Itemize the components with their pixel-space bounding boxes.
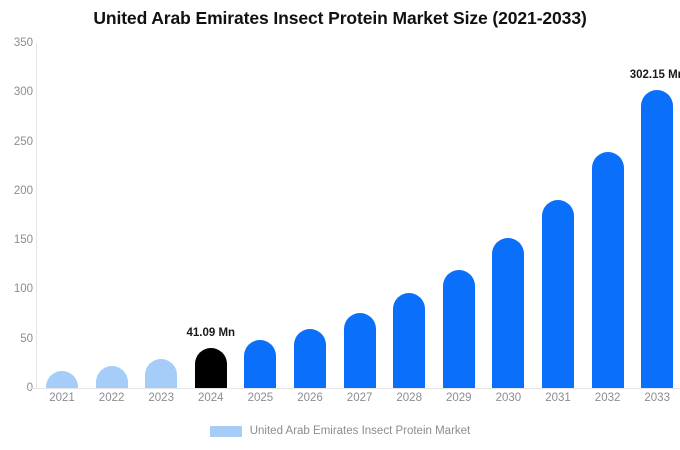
bar-slot	[139, 43, 183, 388]
y-tick-label: 0	[3, 382, 33, 394]
bar-2031[interactable]	[542, 200, 574, 388]
x-tick-label: 2023	[139, 392, 183, 404]
bar-value-label: 41.09 Mn	[187, 327, 236, 339]
y-tick-label: 150	[3, 234, 33, 246]
bar-slot: 302.15 Mn	[635, 43, 679, 388]
x-tick-label: 2021	[40, 392, 84, 404]
bar-slot	[387, 43, 431, 388]
legend-swatch-icon	[210, 426, 242, 437]
x-tick-label: 2025	[238, 392, 282, 404]
legend-item[interactable]: United Arab Emirates Insect Protein Mark…	[210, 425, 471, 437]
bar-slot	[90, 43, 134, 388]
x-tick-label: 2031	[536, 392, 580, 404]
bar-2026[interactable]	[294, 329, 326, 388]
bar-2021[interactable]	[46, 371, 78, 388]
y-tick-label: 50	[3, 333, 33, 345]
bar-slot	[288, 43, 332, 388]
y-tick-label: 100	[3, 283, 33, 295]
chart-legend: United Arab Emirates Insect Protein Mark…	[0, 425, 680, 437]
x-axis-line	[30, 388, 680, 389]
x-tick-label: 2029	[437, 392, 481, 404]
bar-slot	[536, 43, 580, 388]
y-tick-label: 300	[3, 86, 33, 98]
y-tick-label: 250	[3, 136, 33, 148]
bar-slot: 41.09 Mn	[189, 43, 233, 388]
legend-item-label: United Arab Emirates Insect Protein Mark…	[250, 425, 471, 437]
bar-2024[interactable]	[195, 348, 227, 389]
bar-slot	[40, 43, 84, 388]
bar-slot	[586, 43, 630, 388]
bar-2022[interactable]	[96, 366, 128, 388]
bar-value-label: 302.15 Mn	[630, 69, 680, 81]
bar-2028[interactable]	[393, 293, 425, 388]
bar-slot	[238, 43, 282, 388]
x-tick-label: 2022	[90, 392, 134, 404]
x-tick-label: 2026	[288, 392, 332, 404]
bar-chart: United Arab Emirates Insect Protein Mark…	[0, 0, 680, 450]
y-tick-label: 350	[3, 37, 33, 49]
bar-2032[interactable]	[592, 152, 624, 388]
x-tick-label: 2024	[189, 392, 233, 404]
chart-title: United Arab Emirates Insect Protein Mark…	[0, 8, 680, 29]
bar-2030[interactable]	[492, 238, 524, 388]
x-tick-label: 2033	[635, 392, 679, 404]
bar-2029[interactable]	[443, 270, 475, 388]
y-axis-ticks: 050100150200250300350	[0, 0, 33, 450]
x-tick-label: 2028	[387, 392, 431, 404]
bar-2025[interactable]	[244, 340, 276, 388]
bar-slot	[338, 43, 382, 388]
x-tick-label: 2032	[586, 392, 630, 404]
bar-2023[interactable]	[145, 359, 177, 388]
plot-area: 41.09 Mn302.15 Mn	[37, 43, 680, 388]
y-tick-label: 200	[3, 185, 33, 197]
bar-slot	[437, 43, 481, 388]
x-tick-label: 2027	[338, 392, 382, 404]
bar-2027[interactable]	[344, 313, 376, 388]
bar-slot	[486, 43, 530, 388]
bar-2033[interactable]	[641, 90, 673, 388]
x-tick-label: 2030	[486, 392, 530, 404]
